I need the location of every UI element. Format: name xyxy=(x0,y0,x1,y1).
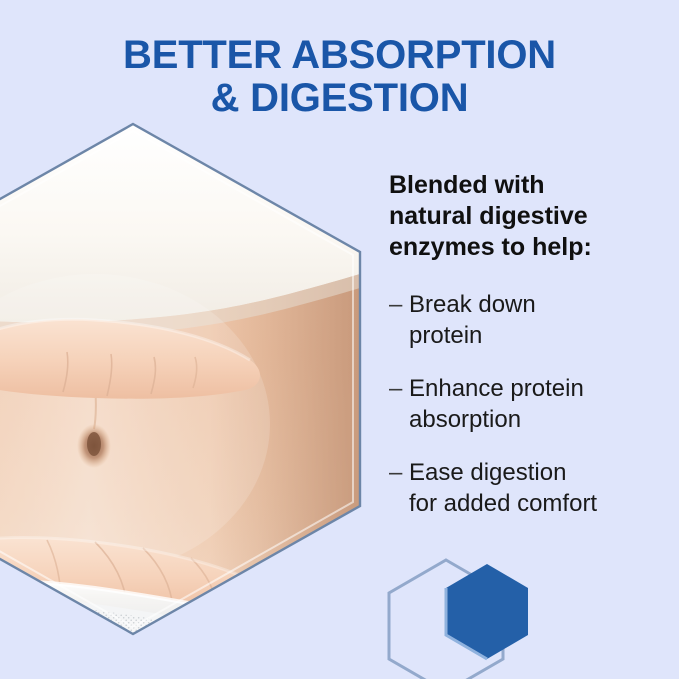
list-item: – Ease digestion for added comfort xyxy=(389,457,665,519)
list-item-line-2: protein xyxy=(409,320,665,351)
photo-content xyxy=(0,124,360,658)
page-title: BETTER ABSORPTION & DIGESTION xyxy=(0,34,679,120)
headline-line-2: & DIGESTION xyxy=(0,77,679,120)
list-item-line-2: absorption xyxy=(409,404,665,435)
subheading-line-3: enzymes to help: xyxy=(389,232,665,263)
bullet-dash-icon: – xyxy=(389,457,409,488)
list-item: – Break down protein xyxy=(389,289,665,351)
infographic-canvas: BETTER ABSORPTION & DIGESTION xyxy=(0,0,679,679)
list-item-text: Enhance protein absorption xyxy=(409,373,665,435)
list-item-text: Break down protein xyxy=(409,289,665,351)
subheading-line-1: Blended with xyxy=(389,170,665,201)
list-item-line-1: Enhance protein xyxy=(409,373,665,404)
list-item: – Enhance protein absorption xyxy=(389,373,665,435)
subheading-line-2: natural digestive xyxy=(389,201,665,232)
hexagon-logo-mark xyxy=(366,548,576,679)
abdomen-hands-photo xyxy=(0,124,360,634)
bullet-dash-icon: – xyxy=(389,373,409,404)
list-item-text: Ease digestion for added comfort xyxy=(409,457,665,519)
bullet-dash-icon: – xyxy=(389,289,409,320)
subheading: Blended with natural digestive enzymes t… xyxy=(389,170,665,263)
list-item-line-1: Break down xyxy=(409,289,665,320)
headline-line-1: BETTER ABSORPTION xyxy=(0,34,679,77)
hexagon-solid-icon xyxy=(446,564,528,659)
list-item-line-2: for added comfort xyxy=(409,488,665,519)
list-item-line-1: Ease digestion xyxy=(409,457,665,488)
benefits-copy: Blended with natural digestive enzymes t… xyxy=(389,170,665,519)
